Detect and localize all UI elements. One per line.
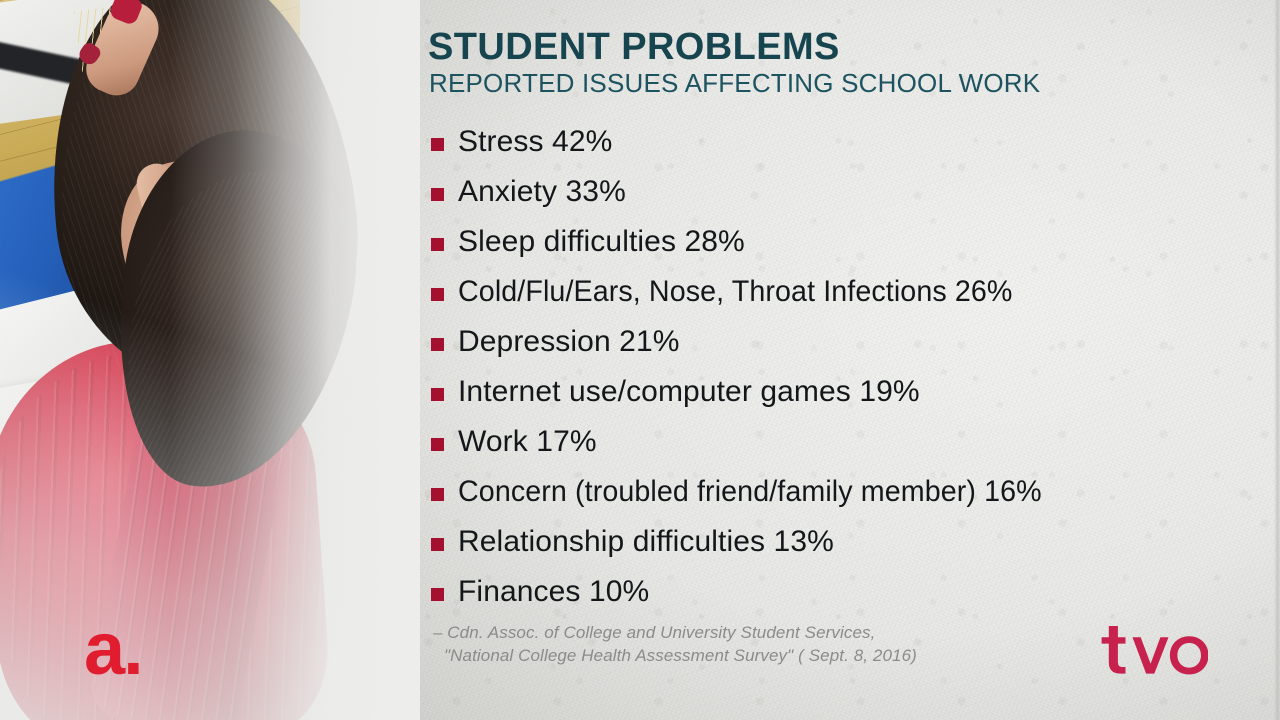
bullet-square-icon — [431, 588, 444, 601]
list-item: Depression 21% — [431, 317, 1221, 367]
list-item-label: Anxiety 33% — [458, 177, 626, 207]
list-item: Cold/Flu/Ears, Nose, Throat Infections 2… — [431, 267, 1221, 317]
bullet-square-icon — [431, 188, 444, 201]
source-dash: – — [433, 623, 442, 642]
agenda-logo: a. — [84, 612, 142, 686]
page-title: STUDENT PROBLEMS — [428, 28, 840, 66]
source-line-1: Cdn. Assoc. of College and University St… — [447, 623, 875, 642]
list-item: Finances 10% — [431, 567, 1221, 617]
source-citation: – Cdn. Assoc. of College and University … — [433, 622, 917, 668]
tvo-logo-glyphs — [1102, 626, 1208, 675]
bullet-square-icon — [431, 338, 444, 351]
list-item-label: Internet use/computer games 19% — [458, 377, 920, 407]
list-item-label: Work 17% — [458, 427, 597, 457]
bullet-square-icon — [431, 538, 444, 551]
list-item: Internet use/computer games 19% — [431, 367, 1221, 417]
list-item-label: Concern (troubled friend/family member) … — [458, 477, 1042, 507]
broadcast-graphic: a. STUDENT PROBLEMS REPORTED ISSUES AFFE… — [0, 0, 1280, 720]
photo-fade — [0, 0, 420, 720]
background-right-edge — [1274, 0, 1280, 720]
list-item: Concern (troubled friend/family member) … — [431, 467, 1221, 517]
bullet-square-icon — [431, 488, 444, 501]
bullet-square-icon — [431, 288, 444, 301]
list-item: Work 17% — [431, 417, 1221, 467]
bullet-square-icon — [431, 388, 444, 401]
list-item-label: Cold/Flu/Ears, Nose, Throat Infections 2… — [458, 277, 1012, 307]
list-item-label: Stress 42% — [458, 127, 612, 157]
list-item: Relationship difficulties 13% — [431, 517, 1221, 567]
list-item-label: Finances 10% — [458, 577, 649, 607]
list-item-label: Sleep difficulties 28% — [458, 227, 745, 257]
list-item-label: Relationship difficulties 13% — [458, 527, 834, 557]
tvo-logo — [1098, 624, 1208, 676]
page-subtitle: REPORTED ISSUES AFFECTING SCHOOL WORK — [429, 70, 1040, 96]
list-item: Stress 42% — [431, 117, 1221, 167]
list-item: Anxiety 33% — [431, 167, 1221, 217]
source-line-2: "National College Health Assessment Surv… — [433, 645, 917, 668]
bullet-square-icon — [431, 438, 444, 451]
statistics-list: Stress 42% Anxiety 33% Sleep difficultie… — [431, 117, 1221, 617]
content-panel: STUDENT PROBLEMS REPORTED ISSUES AFFECTI… — [428, 0, 1228, 720]
list-item: Sleep difficulties 28% — [431, 217, 1221, 267]
bullet-square-icon — [431, 138, 444, 151]
bullet-square-icon — [431, 238, 444, 251]
list-item-label: Depression 21% — [458, 327, 680, 357]
photo-inner — [0, 0, 420, 720]
student-photo — [0, 0, 420, 720]
